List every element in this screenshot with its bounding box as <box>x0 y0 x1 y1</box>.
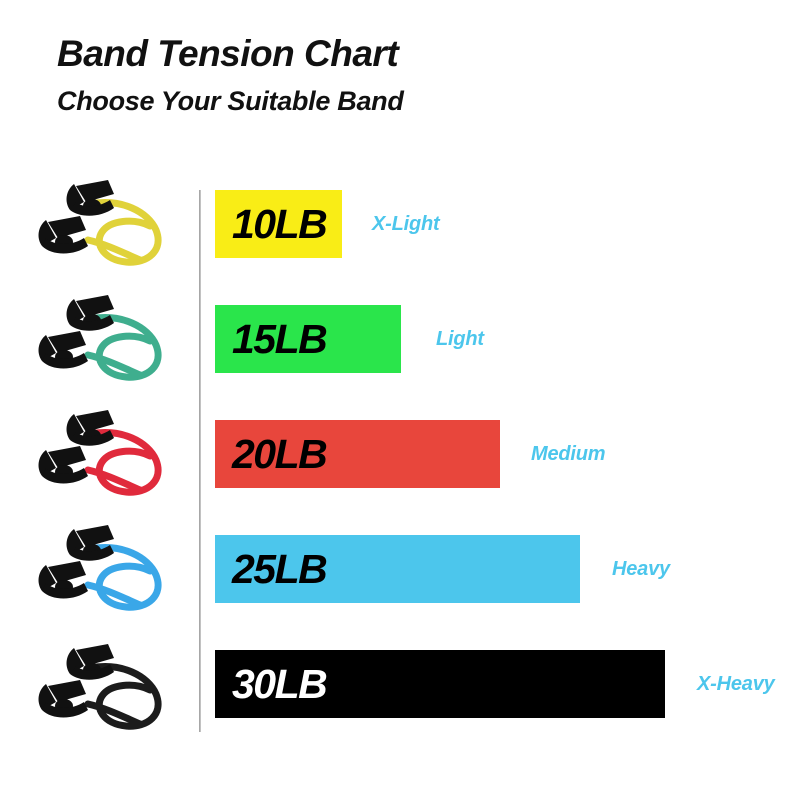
bar-label-25lb: 25LB <box>215 549 326 590</box>
bar-20lb: 20LB <box>215 420 500 488</box>
bar-30lb: 30LB <box>215 650 665 718</box>
resistance-band-red-icon <box>30 398 195 510</box>
chart-row-15lb: 15LB Light <box>0 283 800 397</box>
page-subtitle: Choose Your Suitable Band <box>57 86 404 117</box>
level-label-medium: Medium <box>531 443 605 466</box>
level-label-x-heavy: X-Heavy <box>697 673 775 696</box>
chart-row-30lb: 30LB X-Heavy <box>0 628 800 748</box>
chart-row-10lb: 10LB X-Light <box>0 168 800 282</box>
bar-label-20lb: 20LB <box>215 434 326 475</box>
chart-row-20lb: 20LB Medium <box>0 398 800 512</box>
chart-row-25lb: 25LB Heavy <box>0 513 800 627</box>
bar-label-30lb: 30LB <box>215 664 326 705</box>
bar-15lb: 15LB <box>215 305 401 373</box>
page-title: Band Tension Chart <box>57 33 398 75</box>
level-label-heavy: Heavy <box>612 558 670 581</box>
resistance-band-green-icon <box>30 283 195 395</box>
band-tension-chart: Band Tension Chart Choose Your Suitable … <box>0 0 800 800</box>
resistance-band-yellow-icon <box>30 168 195 280</box>
resistance-band-blue-icon <box>30 513 195 625</box>
bar-25lb: 25LB <box>215 535 580 603</box>
level-label-light: Light <box>436 328 484 351</box>
bar-label-15lb: 15LB <box>215 319 326 360</box>
bar-10lb: 10LB <box>215 190 342 258</box>
bar-label-10lb: 10LB <box>215 204 326 245</box>
level-label-x-light: X-Light <box>372 213 439 236</box>
resistance-band-black-icon <box>30 632 195 744</box>
